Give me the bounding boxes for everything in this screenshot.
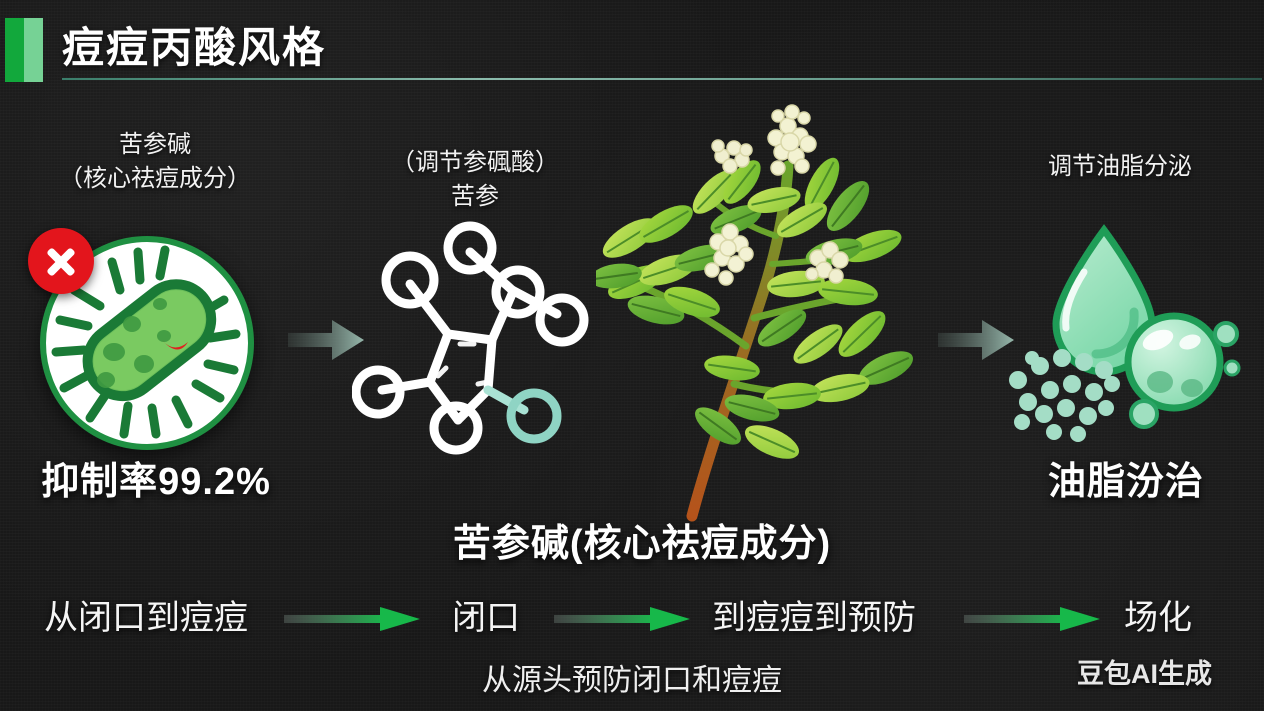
plant-big-label: 苦参碱(核心祛痘成分) xyxy=(382,512,902,567)
bubble-large xyxy=(1128,316,1220,408)
red-x-badge xyxy=(28,228,94,294)
oil-big-label: 油脂汾治 xyxy=(988,450,1264,505)
molecule-glyph xyxy=(352,212,592,462)
oil-caption-line1: 调节油脂分泌 xyxy=(990,150,1250,184)
infographic-canvas: 痘痘丙酸风格 苦参碱 （核心祛痘成分） xyxy=(0,0,1264,711)
flow-step-2: 闭口 xyxy=(452,596,520,640)
title-divider xyxy=(62,78,1262,80)
flow-step-3: 到痘痘到预防 xyxy=(712,596,916,640)
bacteria-big-label: 抑制率99.2% xyxy=(6,450,306,505)
plant-glyph xyxy=(596,96,936,526)
accent-bar-light xyxy=(24,18,43,82)
bacteria-caption-line2: （核心祛痘成分） xyxy=(10,162,300,196)
oil-droplet-icon xyxy=(992,212,1242,442)
bacteria-caption-line1: 苦参碱 xyxy=(10,128,300,162)
molecule-caption-line1: （调节参碸酸） xyxy=(350,146,600,180)
page-title: 痘痘丙酸风格 xyxy=(62,18,326,78)
flow-step-4: 场化 xyxy=(1124,596,1192,640)
molecule-icon xyxy=(352,212,592,462)
flow-subtext: 从源头预防闭口和痘痘 xyxy=(0,655,1264,699)
oil-glyph xyxy=(992,212,1242,442)
flow-arrow-2-icon xyxy=(554,604,690,634)
bacteria-icon xyxy=(28,228,268,450)
molecule-caption-line2: 苦参 xyxy=(350,180,600,214)
molecule-highlight-node xyxy=(511,393,557,439)
watermark-label: 豆包AI生成 xyxy=(1077,652,1212,691)
flow-step-1: 从闭口到痘痘 xyxy=(44,596,248,640)
flow-arrow-3-icon xyxy=(964,604,1100,634)
oil-dots-cluster xyxy=(1009,349,1120,442)
accent-bar-dark xyxy=(5,18,24,82)
title-accent-bar xyxy=(5,18,43,82)
flow-arrow-1-icon xyxy=(284,604,420,634)
bottom-flow: 从闭口到痘痘 闭口 到痘痘到预防 xyxy=(0,596,1264,656)
sophora-plant-icon xyxy=(596,96,936,526)
